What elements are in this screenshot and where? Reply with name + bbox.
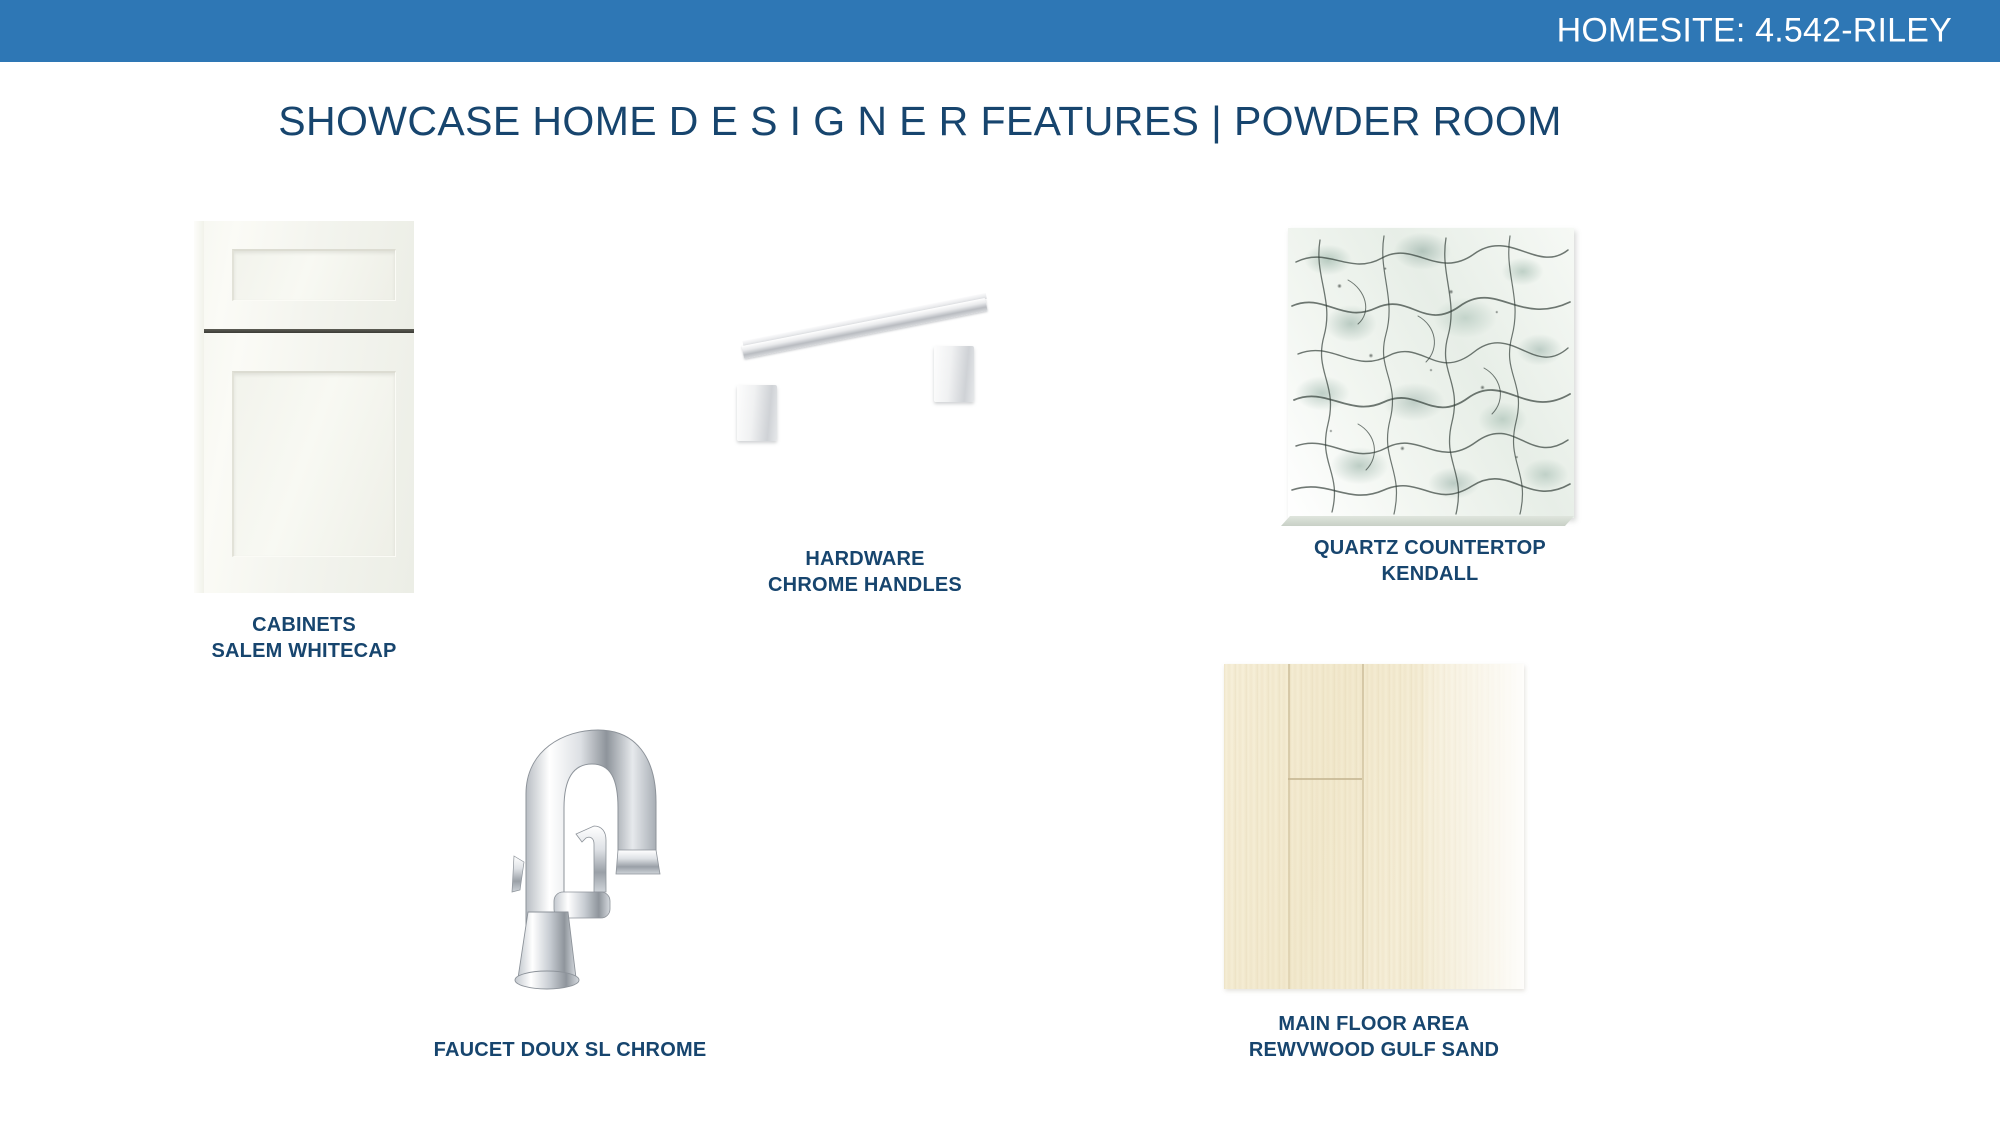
hardware-caption-line-1: HARDWARE — [715, 547, 1015, 573]
cabinet-door-swatch — [194, 221, 414, 593]
cabinet-door-inset-panel — [232, 371, 396, 557]
quartz-countertop-caption: QUARTZ COUNTERTOP KENDALL — [1260, 536, 1600, 587]
cabinets-caption-line-1: CABINETS — [134, 613, 474, 639]
plank-butt-joint — [1288, 778, 1362, 780]
pull-post-right — [934, 346, 974, 402]
cabinet-door-front — [194, 333, 414, 593]
cabinet-drawer-front — [194, 221, 414, 329]
cabinets-caption-line-2: SALEM WHITECAP — [134, 639, 474, 665]
cabinet-drawer-inset-panel — [232, 249, 396, 301]
quartz-surface — [1288, 228, 1574, 518]
floor-swatch-glare — [1424, 664, 1524, 989]
wood-plank-swatch — [1224, 664, 1524, 989]
quartz-slab-edge — [1281, 516, 1574, 526]
homesite-label: HOMESITE: 4.542-RILEY — [1557, 12, 1952, 51]
floor-caption-line-1: MAIN FLOOR AREA — [1164, 1012, 1584, 1038]
page-title: SHOWCASE HOME D E S I G N E R FEATURES |… — [0, 98, 1840, 145]
cabinet-left-edge-highlight — [194, 221, 204, 593]
floor-caption-line-2: REWVWOOD GULF SAND — [1164, 1038, 1584, 1064]
main-floor-caption: MAIN FLOOR AREA REWVWOOD GULF SAND — [1164, 1012, 1584, 1063]
plank-seam-1 — [1288, 664, 1290, 989]
quartz-caption-line-1: QUARTZ COUNTERTOP — [1260, 536, 1600, 562]
cabinets-caption: CABINETS SALEM WHITECAP — [134, 613, 474, 664]
plank-seam-2 — [1362, 664, 1364, 989]
bar-pull-handle-icon — [735, 300, 995, 440]
quartz-slab-swatch — [1288, 228, 1574, 518]
pull-post-left — [737, 385, 777, 441]
faucet-caption: FAUCET DOUX SL CHROME — [330, 1038, 810, 1064]
single-handle-faucet-icon — [490, 716, 690, 1004]
hardware-caption-line-2: CHROME HANDLES — [715, 573, 1015, 599]
quartz-caption-line-2: KENDALL — [1260, 562, 1600, 588]
faucet-caption-line-1: FAUCET DOUX SL CHROME — [330, 1038, 810, 1064]
hardware-caption: HARDWARE CHROME HANDLES — [715, 547, 1015, 598]
header-bar: HOMESITE: 4.542-RILEY — [0, 0, 2000, 62]
